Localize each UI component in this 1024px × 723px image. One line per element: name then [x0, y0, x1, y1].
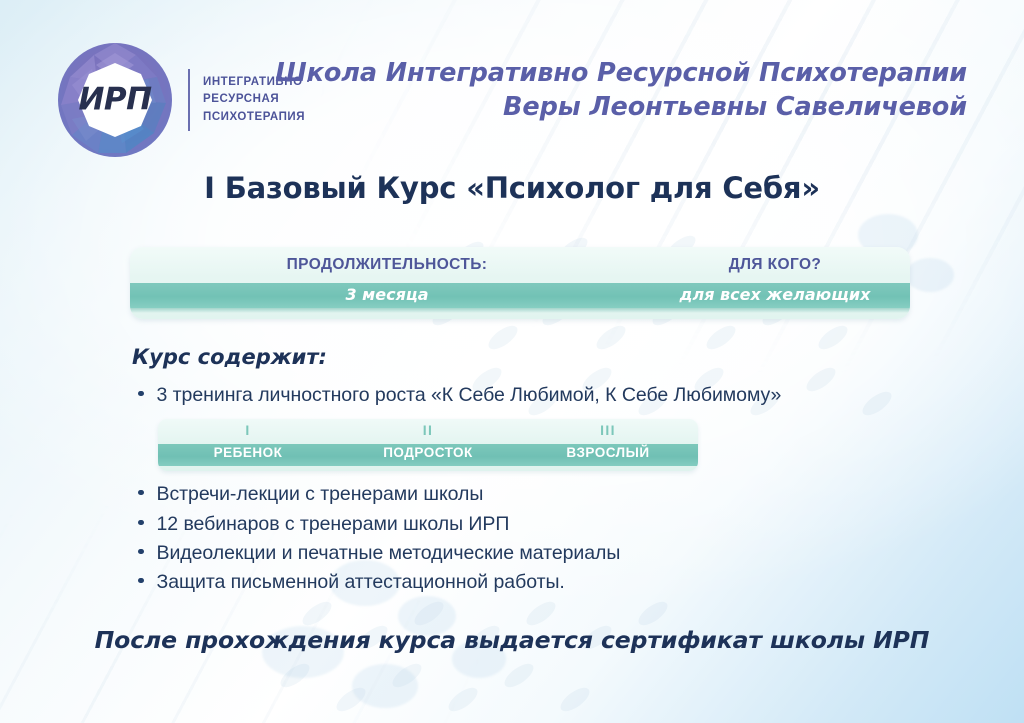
stage-roman-2: II: [338, 423, 518, 437]
irp-mandala-logo-icon: ИРП: [56, 41, 174, 159]
school-title-line-2: Веры Леонтьевны Савеличевой: [275, 91, 967, 125]
bullet-dot-icon: [138, 549, 144, 555]
brand-logo-block: ИРП ИНТЕГРАТИВНО · РЕСУРСНАЯ ПСИХОТЕРАПИ…: [56, 41, 311, 159]
stage-item-adult: III ВЗРОСЛЫЙ: [518, 419, 698, 471]
course-numeral: I: [204, 171, 215, 205]
slide-canvas: ИРП ИНТЕГРАТИВНО · РЕСУРСНАЯ ПСИХОТЕРАПИ…: [0, 0, 1024, 723]
certificate-note: После прохождения курса выдается сертифи…: [0, 626, 1024, 654]
svg-text:ИРП: ИРП: [78, 82, 152, 118]
info-value-audience: для всех желающих: [610, 285, 910, 304]
stage-name-1: РЕБЕНОК: [158, 446, 338, 460]
list-item: Встречи-лекции с тренерами школы: [138, 483, 483, 506]
list-item-label: 3 тренинга личностного роста «К Себе Люб…: [157, 384, 782, 407]
school-title-line-1: Школа Интегративно Ресурсной Психотерапи…: [275, 57, 967, 91]
training-stages-bar: I РЕБЕНОК II ПОДРОСТОК III ВЗРОСЛЫЙ: [158, 419, 698, 471]
info-value-duration: 3 месяца: [222, 285, 552, 304]
list-item-label: 12 вебинаров с тренерами школы ИРП: [157, 513, 510, 536]
slide-header: ИРП ИНТЕГРАТИВНО · РЕСУРСНАЯ ПСИХОТЕРАПИ…: [0, 0, 1024, 165]
info-column-audience: ДЛЯ КОГО? для всех желающих: [610, 247, 910, 319]
stage-roman-3: III: [518, 423, 698, 437]
page-title: IБазовый Курс «Психолог для Себя»: [0, 171, 1024, 205]
logo-divider: [188, 69, 190, 131]
course-info-bar: ПРОДОЛЖИТЕЛЬНОСТЬ: 3 месяца ДЛЯ КОГО? дл…: [130, 247, 910, 319]
list-item-label: Видеолекции и печатные методические мате…: [157, 542, 621, 565]
stage-item-teen: II ПОДРОСТОК: [338, 419, 518, 471]
list-item: 12 вебинаров с тренерами школы ИРП: [138, 513, 509, 536]
list-item: Видеолекции и печатные методические мате…: [138, 542, 620, 565]
bullet-dot-icon: [138, 520, 144, 526]
stage-name-3: ВЗРОСЛЫЙ: [518, 446, 698, 460]
info-column-duration: ПРОДОЛЖИТЕЛЬНОСТЬ: 3 месяца: [222, 247, 552, 319]
stage-item-child: I РЕБЕНОК: [158, 419, 338, 471]
list-item: Защита письменной аттестационной работы.: [138, 571, 565, 594]
course-title-text: Базовый Курс «Психолог для Себя»: [225, 171, 820, 205]
school-title: Школа Интегративно Ресурсной Психотерапи…: [275, 57, 967, 124]
stage-name-2: ПОДРОСТОК: [338, 446, 518, 460]
list-item-label: Защита письменной аттестационной работы.: [157, 571, 565, 594]
info-label-audience: ДЛЯ КОГО?: [610, 256, 910, 274]
list-item: 3 тренинга личностного роста «К Себе Люб…: [138, 384, 781, 407]
list-item-label: Встречи-лекции с тренерами школы: [157, 483, 484, 506]
stage-roman-1: I: [158, 423, 338, 437]
info-label-duration: ПРОДОЛЖИТЕЛЬНОСТЬ:: [222, 256, 552, 274]
section-title-contains: Курс содержит:: [132, 345, 327, 369]
bullet-dot-icon: [138, 391, 144, 397]
bullet-dot-icon: [138, 490, 144, 496]
bullet-dot-icon: [138, 578, 144, 584]
